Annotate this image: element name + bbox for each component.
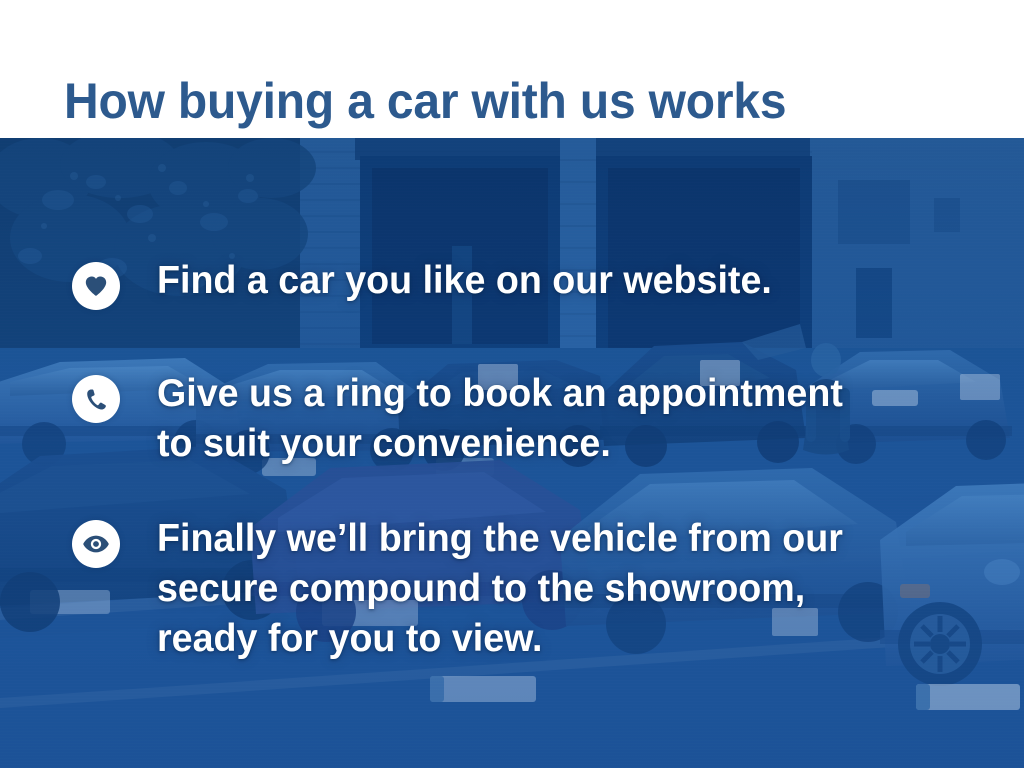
step-line: secure compound to the showroom, — [157, 564, 843, 614]
step-item-find-a-car: Find a car you like on our website. — [72, 256, 794, 310]
step-text: Finally we’ll bring the vehicle from our… — [157, 514, 843, 664]
step-line: Finally we’ll bring the vehicle from our — [157, 514, 843, 564]
step-text: Find a car you like on our website. — [157, 256, 772, 306]
step-line: ready for you to view. — [157, 614, 843, 664]
step-line: Find a car you like on our website. — [157, 256, 772, 306]
header-bar: How buying a car with us works — [0, 0, 1024, 138]
step-line: to suit your convenience. — [157, 419, 843, 469]
step-text: Give us a ring to book an appointment to… — [157, 369, 843, 469]
phone-icon — [72, 375, 120, 423]
eye-icon — [72, 520, 120, 568]
step-item-bring-the-vehicle: Finally we’ll bring the vehicle from our… — [72, 514, 868, 664]
step-line: Give us a ring to book an appointment — [157, 369, 843, 419]
slide-root: How buying a car with us works Find a ca… — [0, 0, 1024, 768]
heart-icon — [72, 262, 120, 310]
page-title: How buying a car with us works — [64, 70, 786, 132]
steps-list: Find a car you like on our website. Give… — [0, 138, 1024, 768]
step-item-give-us-a-ring: Give us a ring to book an appointment to… — [72, 369, 868, 469]
